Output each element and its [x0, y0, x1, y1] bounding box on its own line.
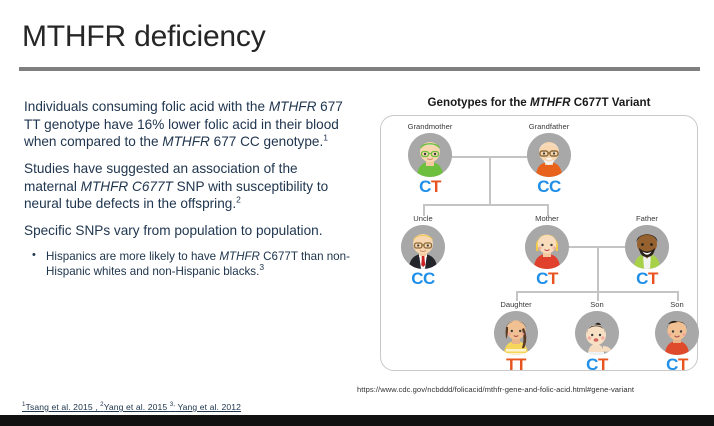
bottom-bar: [0, 415, 714, 426]
person-son-1: Son CT: [564, 300, 630, 375]
allele-T: T: [431, 177, 441, 196]
genotype-label: CC: [516, 178, 582, 197]
avatar: [655, 311, 699, 355]
allele-C: C: [666, 355, 678, 374]
list-item: Hispanics are more likely to have MTHFR …: [24, 249, 354, 279]
allele-T: T: [506, 355, 516, 374]
avatar: [575, 311, 619, 355]
person-grandfather: Grandfather CC: [516, 122, 582, 197]
avatar: [527, 133, 571, 177]
avatar: [408, 133, 452, 177]
person-role-label: Son: [644, 300, 710, 309]
allele-T: T: [516, 355, 526, 374]
paragraph-1: Individuals consuming folic acid with th…: [24, 98, 354, 151]
person-grandmother: Grandmother CT: [397, 122, 463, 197]
genotype-label: CT: [564, 356, 630, 375]
connector-grandparents-drop: [489, 156, 491, 204]
pedigree-diagram: Genotypes for the MTHFR C677T Variant Gr…: [374, 96, 704, 386]
allele-C: C: [586, 355, 598, 374]
person-role-label: Uncle: [390, 214, 456, 223]
diagram-title: Genotypes for the MTHFR C677T Variant: [374, 96, 704, 109]
person-uncle: Uncle CC: [390, 214, 456, 289]
allele-T: T: [678, 355, 688, 374]
allele-C: C: [549, 177, 561, 196]
page-title: MTHFR deficiency: [22, 20, 266, 54]
allele-C: C: [536, 269, 548, 288]
genotype-label: CC: [390, 270, 456, 289]
allele-T: T: [598, 355, 608, 374]
person-mother: Mother CT: [514, 214, 580, 289]
person-role-label: Grandfather: [516, 122, 582, 131]
pedigree-box: Grandmother CT: [380, 115, 698, 371]
genotype-label: CT: [644, 356, 710, 375]
person-daughter: Daughter: [483, 300, 549, 375]
allele-C: C: [419, 177, 431, 196]
paragraph-3: Specific SNPs vary from population to po…: [24, 222, 354, 240]
avatar: [525, 225, 569, 269]
allele-T: T: [548, 269, 558, 288]
bullet-list: Hispanics are more likely to have MTHFR …: [24, 249, 354, 279]
allele-T: T: [648, 269, 658, 288]
person-role-label: Grandmother: [397, 122, 463, 131]
avatar: [494, 311, 538, 355]
footnote-references: 1Tsang et al. 2015 , 2Yang et al. 2015 3…: [22, 402, 241, 412]
genotype-label: CT: [514, 270, 580, 289]
avatar: [401, 225, 445, 269]
allele-C: C: [423, 269, 435, 288]
title-divider: [19, 67, 700, 71]
allele-C: C: [537, 177, 549, 196]
paragraph-2: Studies have suggested an association of…: [24, 160, 354, 213]
genotype-label: CT: [614, 270, 680, 289]
genotype-label: CT: [397, 178, 463, 197]
connector-parents-drop: [597, 246, 599, 291]
allele-C: C: [411, 269, 423, 288]
connector-sibling-bar: [423, 204, 548, 206]
person-role-label: Mother: [514, 214, 580, 223]
person-role-label: Daughter: [483, 300, 549, 309]
person-role-label: Son: [564, 300, 630, 309]
source-url: https://www.cdc.gov/ncbddd/folicacid/mth…: [357, 385, 634, 394]
avatar: [625, 225, 669, 269]
genotype-label: TT: [483, 356, 549, 375]
person-role-label: Father: [614, 214, 680, 223]
allele-C: C: [636, 269, 648, 288]
person-father: Father CT: [614, 214, 680, 289]
person-son-2: Son CT: [644, 300, 710, 375]
body-text-column: Individuals consuming folic acid with th…: [24, 98, 354, 281]
